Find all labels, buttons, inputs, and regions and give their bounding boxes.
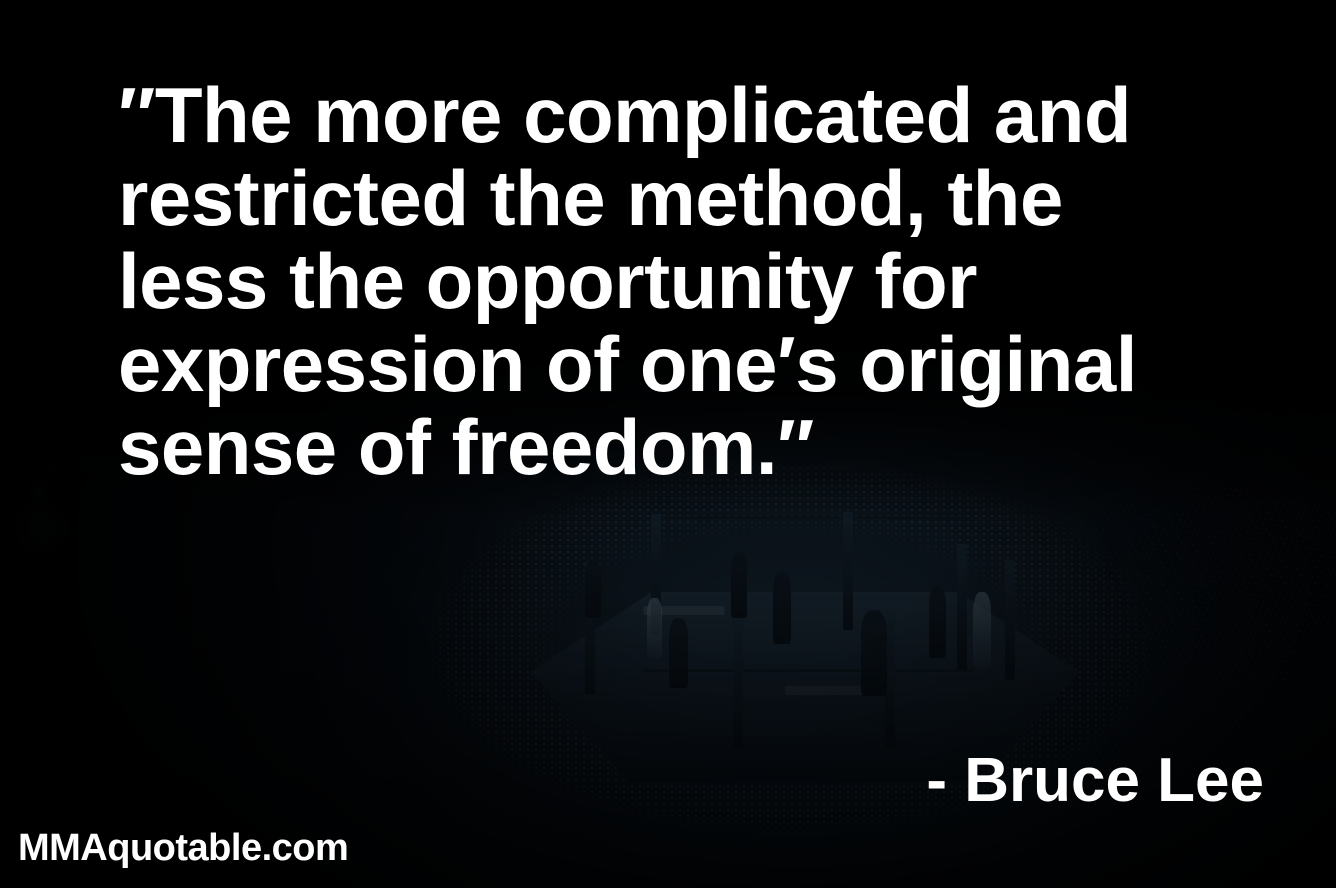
site-watermark: MMAquotable.com: [18, 826, 348, 870]
quote-attribution: - Bruce Lee: [0, 748, 1264, 814]
text-content: ″The more complicated and restricted the…: [0, 0, 1336, 888]
quote-text: ″The more complicated and restricted the…: [118, 74, 1278, 489]
quote-poster: ″The more complicated and restricted the…: [0, 0, 1336, 888]
